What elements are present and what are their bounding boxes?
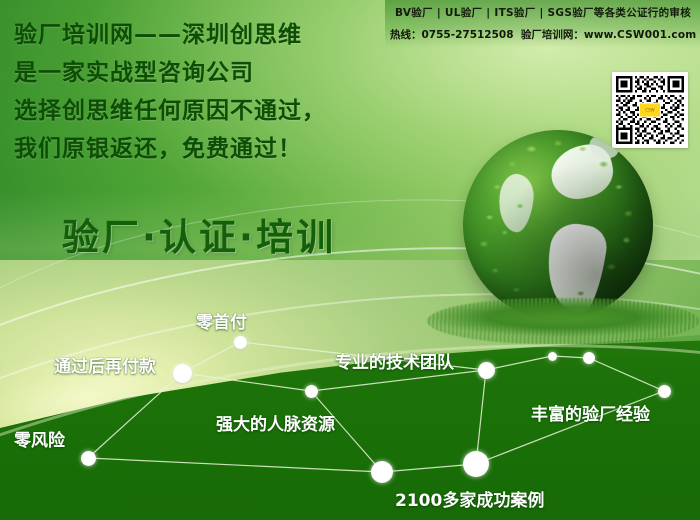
network-node xyxy=(234,336,247,349)
network-label-success-cases: 2100多家成功案例 xyxy=(395,486,544,511)
network-node xyxy=(463,451,489,477)
network-node xyxy=(81,451,96,466)
network-label-pay-after-passing: 通过后再付款 xyxy=(54,352,156,377)
network-node xyxy=(371,461,393,483)
network-node xyxy=(305,385,318,398)
network-label-rich-experience: 丰富的验厂经验 xyxy=(531,400,650,425)
network-label-strong-network: 强大的人脉资源 xyxy=(216,410,335,435)
network-label-zero-risk: 零风险 xyxy=(14,426,65,451)
network-node xyxy=(478,362,495,379)
network-node xyxy=(548,352,557,361)
network-label-zero-downpayment: 零首付 xyxy=(196,308,247,333)
network-graphic: 零首付 通过后再付款 零风险 专业的技术团队 强大的人脉资源 丰富的验厂经验 2… xyxy=(0,0,700,520)
network-lines xyxy=(0,0,700,520)
network-label-professional-team: 专业的技术团队 xyxy=(335,348,454,373)
network-node xyxy=(173,364,192,383)
banner-canvas: BV验厂 | UL验厂 | ITS验厂 | SGS验厂等各类公证行的审核 热线：… xyxy=(0,0,700,520)
network-node xyxy=(658,385,671,398)
network-node xyxy=(583,352,595,364)
